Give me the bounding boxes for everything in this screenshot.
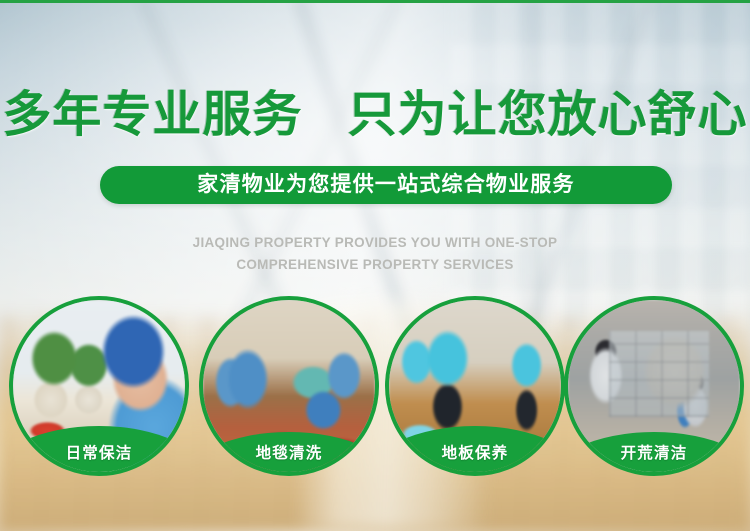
headline-part-1: 多年专业服务	[2, 88, 302, 142]
service-label: 地毯清洗	[203, 445, 375, 463]
service-item-daily-cleaning[interactable]: 日常保洁	[9, 296, 189, 476]
service-item-floor-maintenance[interactable]: 地板保养	[385, 296, 565, 476]
top-green-rule	[0, 0, 750, 3]
english-subtitle-line-1: JIAQING PROPERTY PROVIDES YOU WITH ONE-S…	[0, 232, 750, 254]
service-label: 地板保养	[389, 445, 561, 463]
tagline-text: 家清物业为您提供一站式综合物业服务	[100, 166, 672, 204]
english-subtitle: JIAQING PROPERTY PROVIDES YOU WITH ONE-S…	[0, 232, 750, 276]
service-item-carpet-washing[interactable]: 地毯清洗	[199, 296, 379, 476]
english-subtitle-line-2: COMPREHENSIVE PROPERTY SERVICES	[0, 254, 750, 276]
service-label: 开荒清洁	[568, 445, 740, 463]
service-promo-banner: 多年专业服务 只为让您放心舒心 家清物业为您提供一站式综合物业服务 JIAQIN…	[0, 0, 750, 531]
tagline-pill: 家清物业为您提供一站式综合物业服务	[100, 166, 672, 204]
page-title: 多年专业服务 只为让您放心舒心	[0, 86, 750, 144]
headline-part-2: 只为让您放心舒心	[348, 88, 748, 142]
service-item-post-construction-cleaning[interactable]: 开荒清洁	[564, 296, 744, 476]
service-label: 日常保洁	[13, 445, 185, 463]
service-circle-row: 日常保洁 地毯清洗 地板保养 开荒清洁	[0, 296, 750, 482]
